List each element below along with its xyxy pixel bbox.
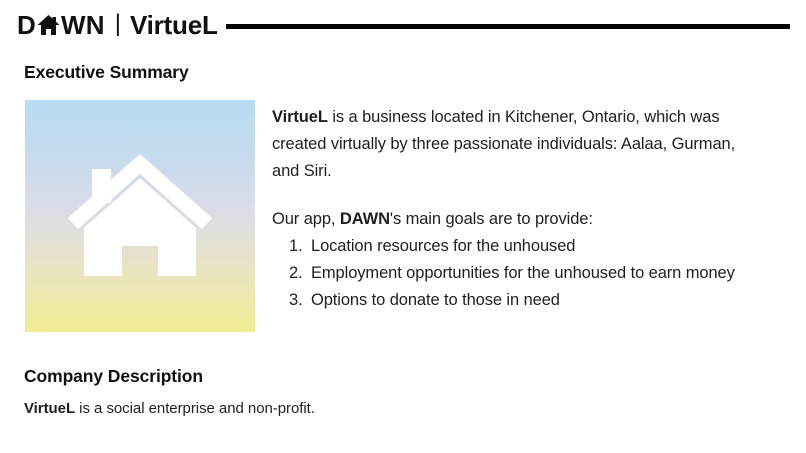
- logo-wordmark: D WN: [17, 12, 105, 38]
- page-header: D WN | VirtueL: [0, 0, 806, 52]
- executive-summary-text: VirtueL is a business located in Kitchen…: [272, 104, 752, 314]
- list-item: 2. Employment opportunities for the unho…: [272, 260, 752, 287]
- list-item: 1. Location resources for the unhoused: [272, 233, 752, 260]
- company-description-bold: VirtueL: [24, 400, 75, 417]
- house-icon: [37, 14, 60, 36]
- logo-brand-name: VirtueL: [130, 12, 218, 38]
- paragraph-intro-bold: VirtueL: [272, 108, 328, 126]
- company-description-rest: is a social enterprise and non-profit.: [75, 400, 315, 417]
- paragraph-intro: VirtueL is a business located in Kitchen…: [272, 104, 752, 185]
- paragraph-intro-rest: is a business located in Kitchener, Onta…: [272, 108, 735, 180]
- goals-lead-bold: DAWN: [340, 210, 390, 228]
- logo-separator: |: [115, 12, 121, 36]
- logo-letters-wn: WN: [61, 12, 105, 38]
- executive-summary-image: [25, 100, 255, 332]
- list-item-number: 2.: [289, 260, 311, 287]
- goals-lead-prefix: Our app,: [272, 210, 340, 228]
- goals-lead-suffix: 's main goals are to provide:: [390, 210, 593, 228]
- list-item-number: 3.: [289, 287, 311, 314]
- paragraph-goals-lead: Our app, DAWN's main goals are to provid…: [272, 206, 752, 233]
- executive-summary-heading: Executive Summary: [24, 62, 189, 83]
- logo-letter-d: D: [17, 12, 36, 38]
- dawn-virtuel-logo: D WN | VirtueL: [17, 7, 218, 43]
- list-item-number: 1.: [289, 233, 311, 260]
- company-description-text: VirtueL is a social enterprise and non-p…: [24, 398, 315, 420]
- header-divider-rule: [226, 24, 790, 29]
- house-illustration-icon: [64, 148, 216, 284]
- list-item-label: Options to donate to those in need: [311, 287, 752, 314]
- list-item-label: Location resources for the unhoused: [311, 233, 752, 260]
- goals-list: 1. Location resources for the unhoused 2…: [272, 233, 752, 314]
- list-item: 3. Options to donate to those in need: [272, 287, 752, 314]
- list-item-label: Employment opportunities for the unhouse…: [311, 260, 752, 287]
- company-description-heading: Company Description: [24, 366, 203, 387]
